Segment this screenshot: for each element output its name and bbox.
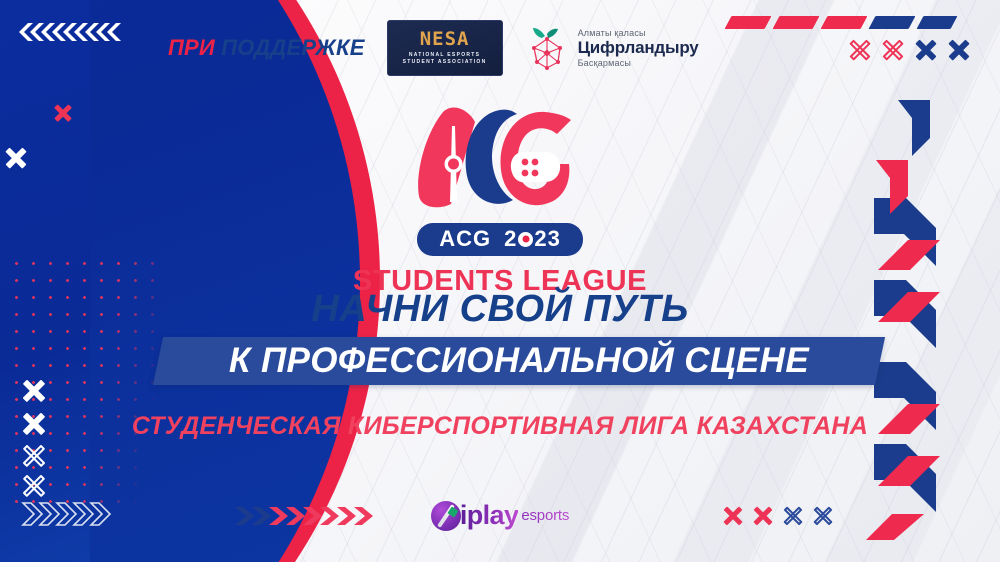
year-suffix: 23 bbox=[534, 228, 560, 250]
nesa-subtitle: NATIONAL ESPORTS STUDENT ASSOCIATION bbox=[403, 52, 487, 67]
almaty-apple-network-icon bbox=[525, 24, 569, 72]
iplay-circle-icon bbox=[431, 501, 461, 531]
almaty-line1: Алматы қаласы bbox=[578, 28, 699, 38]
support-label: ПРИ ПОДДЕРЖКЕ bbox=[168, 35, 365, 61]
nesa-logo: NESA NATIONAL ESPORTS STUDENT ASSOCIATIO… bbox=[387, 20, 503, 76]
almaty-text: Алматы қаласы Цифрландыру Басқармасы bbox=[578, 28, 699, 67]
promo-banner: ПРИ ПОДДЕРЖКЕ NESA NATIONAL ESPORTS STUD… bbox=[0, 0, 1000, 562]
dash-decor bbox=[869, 16, 916, 29]
iplay-esports-word: esports bbox=[521, 507, 569, 524]
x-mark-icon bbox=[914, 38, 938, 62]
iplay-wordmark: iplay bbox=[460, 500, 519, 531]
x-mark-icon bbox=[848, 38, 872, 62]
almaty-line3: Басқармасы bbox=[578, 58, 699, 68]
support-label-part1: ПРИ bbox=[168, 35, 215, 60]
dash-decor bbox=[917, 16, 958, 29]
almaty-line2: Цифрландыру bbox=[578, 38, 699, 57]
year-zero-dot-icon bbox=[518, 232, 533, 247]
nesa-subtitle-line2: STUDENT ASSOCIATION bbox=[403, 59, 487, 65]
x-mark-icon bbox=[21, 378, 47, 404]
acg-badge-year: 223 bbox=[504, 228, 561, 250]
dash-decor bbox=[821, 16, 868, 29]
headline-line2: К ПРОФЕССИОНАЛЬНОЙ СЦЕНЕ bbox=[158, 337, 880, 385]
top-left-chevrons bbox=[16, 22, 128, 42]
supporters-strip: ПРИ ПОДДЕРЖКЕ NESA NATIONAL ESPORTS STUD… bbox=[168, 20, 699, 76]
acg-year-badge: ACG 223 bbox=[417, 223, 583, 256]
dash-decor bbox=[725, 16, 772, 29]
headline-subtitle: СТУДЕНЧЕСКАЯ КИБЕРСПОРТИВНАЯ ЛИГА КАЗАХС… bbox=[0, 412, 1000, 441]
iplay-esports-logo: iplay esports bbox=[0, 500, 1000, 531]
almaty-digitalization-logo: Алматы қаласы Цифрландыру Басқармасы bbox=[525, 24, 699, 72]
x-mark-icon bbox=[21, 473, 47, 499]
nesa-wordmark: NESA bbox=[420, 30, 470, 49]
chevron-left-icon bbox=[16, 22, 128, 42]
year-prefix: 2 bbox=[504, 228, 517, 250]
acg-logo-block: ACG 223 STUDENTS LEAGUE bbox=[0, 104, 1000, 298]
acg-badge-letters: ACG bbox=[439, 228, 491, 250]
x-mark-icon bbox=[21, 443, 47, 469]
dash-decor bbox=[773, 16, 820, 29]
x-mark-icon bbox=[881, 38, 905, 62]
headline-line1: НАЧНИ СВОЙ ПУТЬ bbox=[0, 288, 1000, 331]
x-mark-icon bbox=[947, 38, 971, 62]
support-label-part2: ПОДДЕРЖКЕ bbox=[221, 35, 364, 60]
acg-logo-mark bbox=[405, 104, 595, 216]
nesa-subtitle-line1: NATIONAL ESPORTS bbox=[409, 52, 480, 58]
